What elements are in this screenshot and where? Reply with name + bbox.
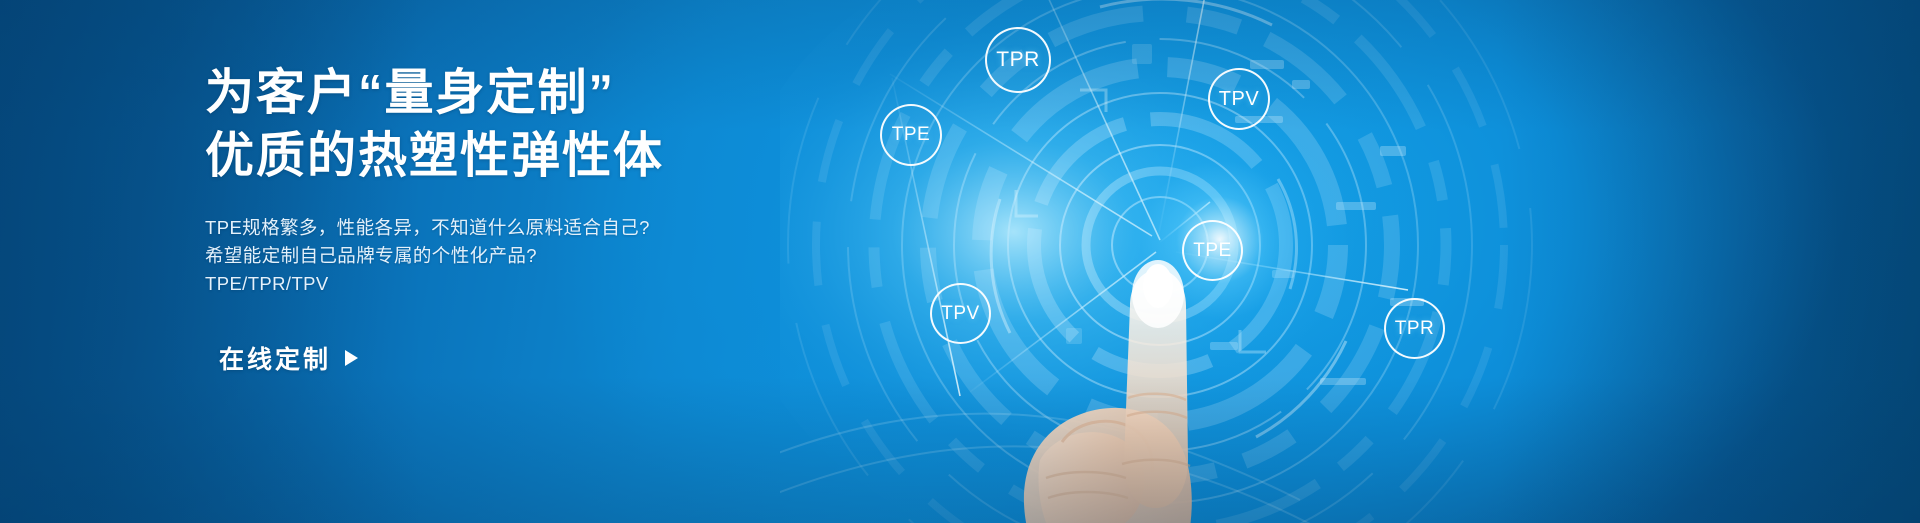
material-bubble-label: TPE xyxy=(1193,240,1231,262)
material-bubble-tpr-5: TPR xyxy=(1384,298,1445,359)
subcopy-line-3: TPE/TPR/TPV xyxy=(205,270,965,298)
material-bubble-tpe-3: TPE xyxy=(1182,220,1243,281)
arrow-right-icon xyxy=(345,350,358,366)
cta-label: 在线定制 xyxy=(219,340,331,376)
material-bubble-label: TPR xyxy=(996,48,1040,72)
hero-subcopy: TPE规格繁多，性能各异，不知道什么原料适合自己? 希望能定制自己品牌专属的个性… xyxy=(205,214,965,298)
subcopy-line-1: TPE规格繁多，性能各异，不知道什么原料适合自己? xyxy=(205,214,965,242)
headline-line-1: 为客户“量身定制” xyxy=(205,62,965,125)
material-bubble-tpr-0: TPR xyxy=(985,27,1051,93)
online-customization-button[interactable]: 在线定制 xyxy=(219,340,358,376)
material-bubble-label: TPV xyxy=(1219,88,1259,111)
headline-line-2: 优质的热塑性弹性体 xyxy=(205,125,965,188)
subcopy-line-2: 希望能定制自己品牌专属的个性化产品? xyxy=(205,242,965,270)
material-bubble-label: TPR xyxy=(1395,318,1435,340)
page-title: 为客户“量身定制” 优质的热塑性弹性体 xyxy=(205,62,965,188)
hero-banner: TPRTPVTPETPETPVTPR 为客户“量身定制” 优质的热塑性弹性体 T… xyxy=(0,0,1920,523)
material-bubble-tpv-1: TPV xyxy=(1208,68,1270,130)
background-right-wash xyxy=(1500,0,1920,523)
hero-copy: 为客户“量身定制” 优质的热塑性弹性体 TPE规格繁多，性能各异，不知道什么原料… xyxy=(205,62,965,376)
